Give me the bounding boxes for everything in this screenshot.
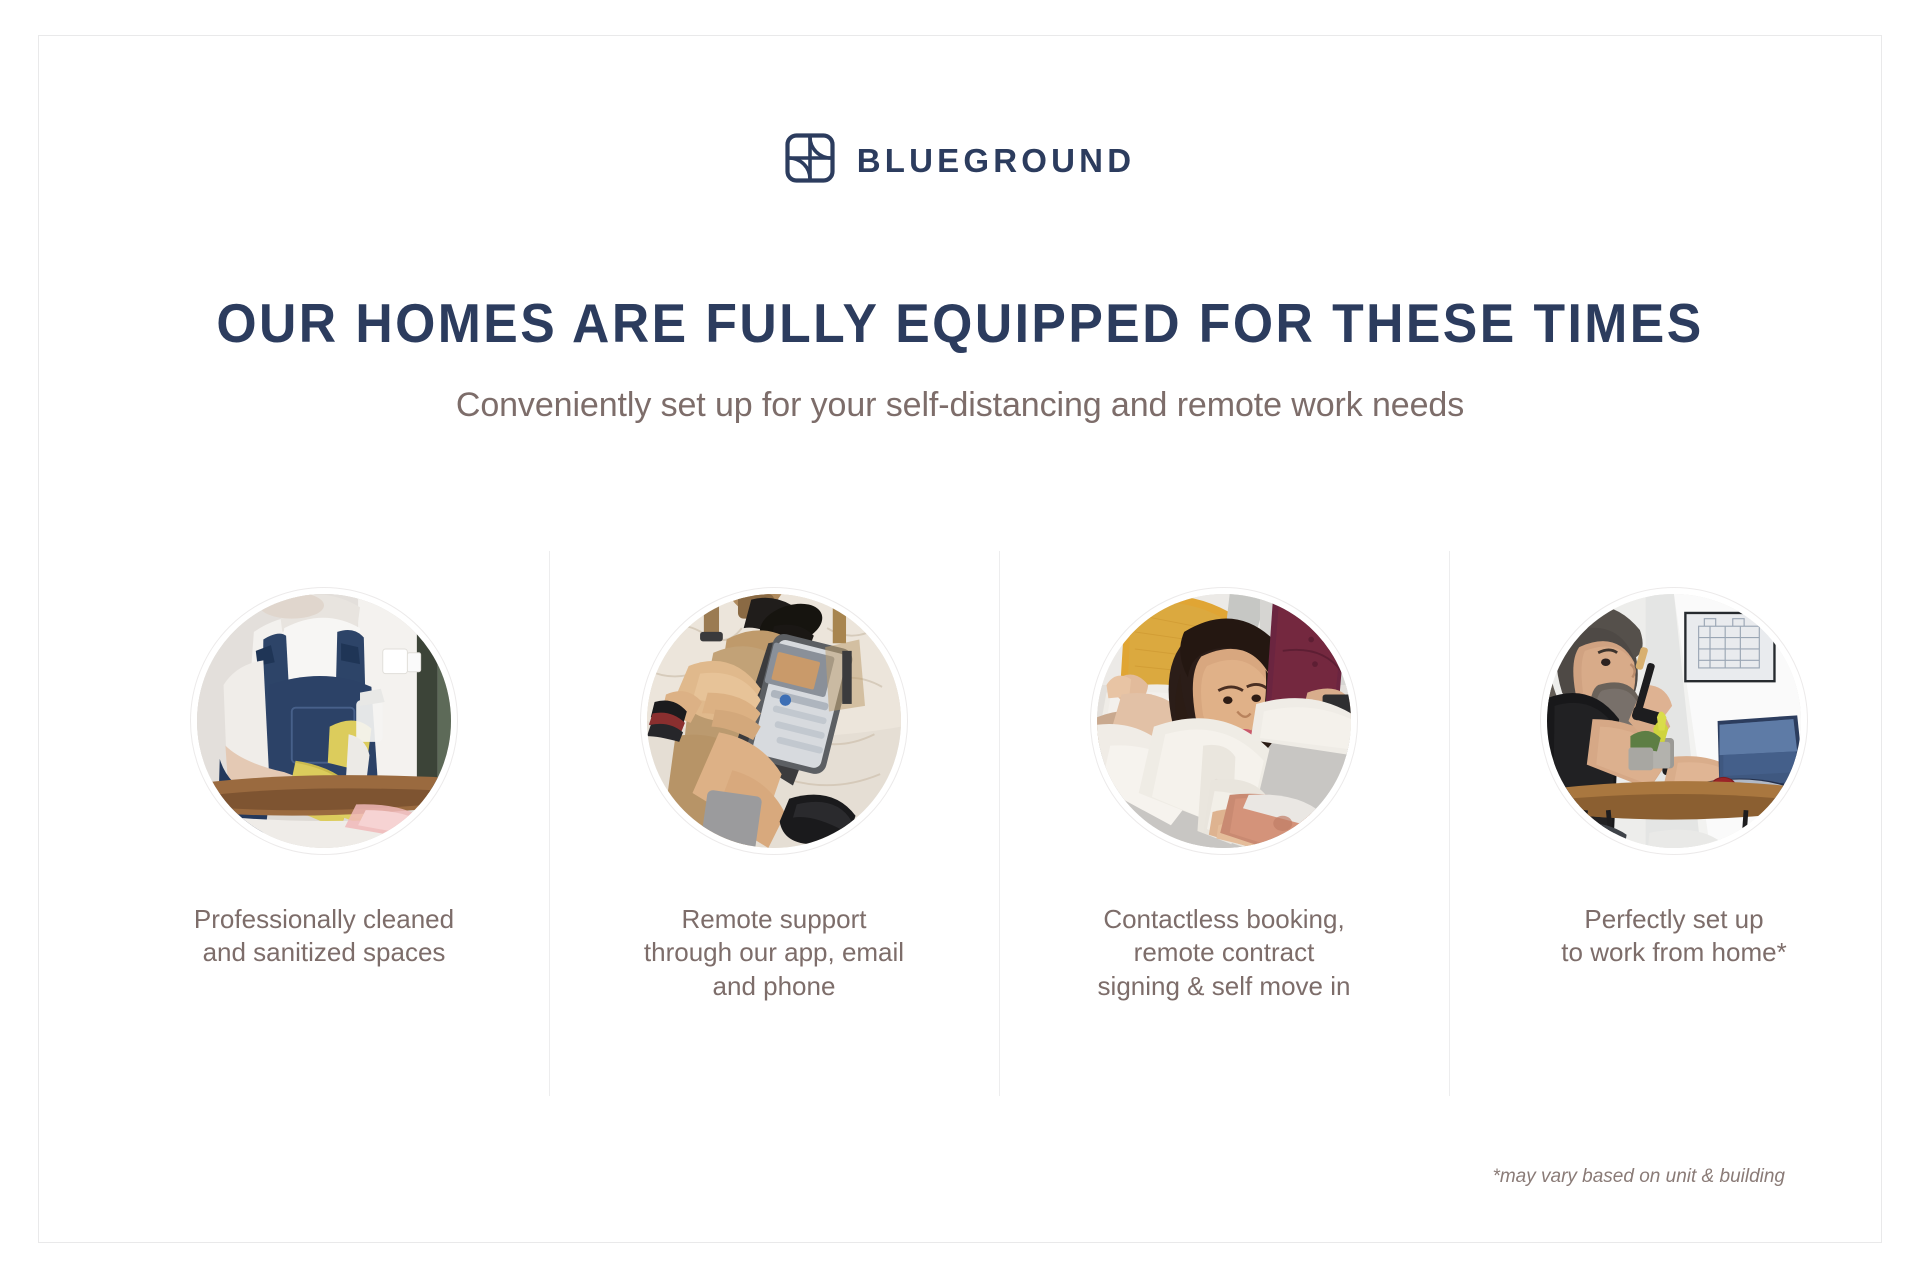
brand-wordmark: BLUEGROUND bbox=[857, 144, 1136, 177]
brand-lockup: BLUEGROUND bbox=[39, 133, 1881, 188]
photo-professional-cleaning bbox=[197, 594, 451, 848]
feature-column-contactless-booking: Contactless booking, remote contract sig… bbox=[999, 551, 1449, 1096]
photo-ring bbox=[1090, 587, 1358, 855]
feature-column-remote-support: Remote support through our app, email an… bbox=[549, 551, 999, 1096]
blueground-square-mark-icon bbox=[785, 133, 835, 188]
feature-caption: Professionally cleaned and sanitized spa… bbox=[194, 903, 454, 970]
photo-ring bbox=[190, 587, 458, 855]
poster-canvas: BLUEGROUND Our homes are fully equipped … bbox=[0, 0, 1920, 1280]
feature-columns: Professionally cleaned and sanitized spa… bbox=[99, 551, 1899, 1096]
photo-ring bbox=[1540, 587, 1808, 855]
footnote-disclaimer: *may vary based on unit & building bbox=[1492, 1166, 1785, 1188]
feature-caption: Perfectly set up to work from home* bbox=[1561, 903, 1786, 970]
feature-caption: Remote support through our app, email an… bbox=[644, 903, 904, 1003]
photo-remote-support bbox=[647, 594, 901, 848]
photo-work-from-home bbox=[1547, 594, 1801, 848]
page-subtitle: Conveniently set up for your self-distan… bbox=[39, 386, 1881, 425]
feature-caption: Contactless booking, remote contract sig… bbox=[1098, 903, 1351, 1003]
poster-frame: BLUEGROUND Our homes are fully equipped … bbox=[38, 35, 1882, 1243]
photo-contactless-booking bbox=[1097, 594, 1351, 848]
feature-column-cleaning: Professionally cleaned and sanitized spa… bbox=[99, 551, 549, 1096]
page-title: Our homes are fully equipped for these t… bbox=[94, 291, 1825, 355]
photo-ring bbox=[640, 587, 908, 855]
feature-column-work-from-home: Perfectly set up to work from home* bbox=[1449, 551, 1899, 1096]
